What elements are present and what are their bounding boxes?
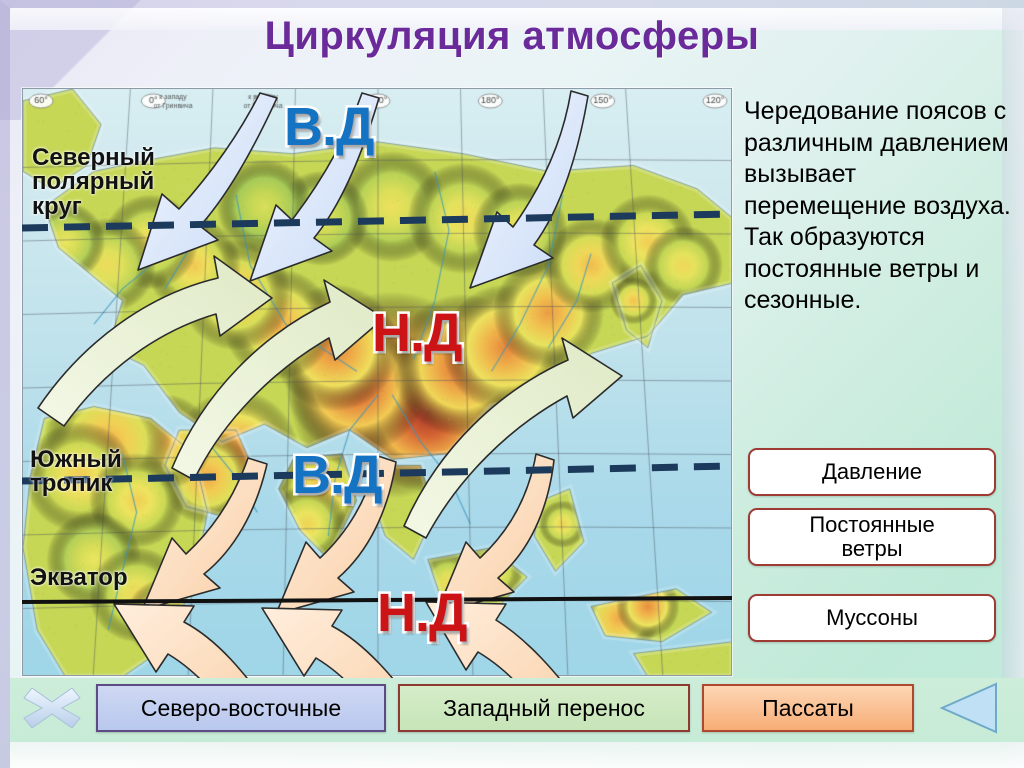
physical-map[interactable] bbox=[22, 88, 732, 676]
bottom-button-trade-winds[interactable]: Пассаты bbox=[702, 684, 914, 732]
description-text: Чередование поясов с различным давлением… bbox=[744, 96, 1012, 317]
back-triangle-icon[interactable] bbox=[938, 682, 1000, 734]
side-button-constant-winds[interactable]: Постоянные ветры bbox=[748, 508, 996, 566]
bottom-button-northeast-winds[interactable]: Северо-восточные bbox=[96, 684, 386, 732]
bottom-button-westerlies[interactable]: Западный перенос bbox=[398, 684, 690, 732]
slide-root: Циркуляция атмосферы bbox=[0, 0, 1024, 768]
page-title: Циркуляция атмосферы bbox=[0, 14, 1024, 59]
side-button-monsoons[interactable]: Муссоны bbox=[748, 594, 996, 642]
close-x-icon[interactable] bbox=[20, 684, 84, 732]
side-button-pressure[interactable]: Давление bbox=[748, 448, 996, 496]
frame-bevel-bottom bbox=[10, 742, 1024, 768]
map-image bbox=[23, 89, 732, 676]
